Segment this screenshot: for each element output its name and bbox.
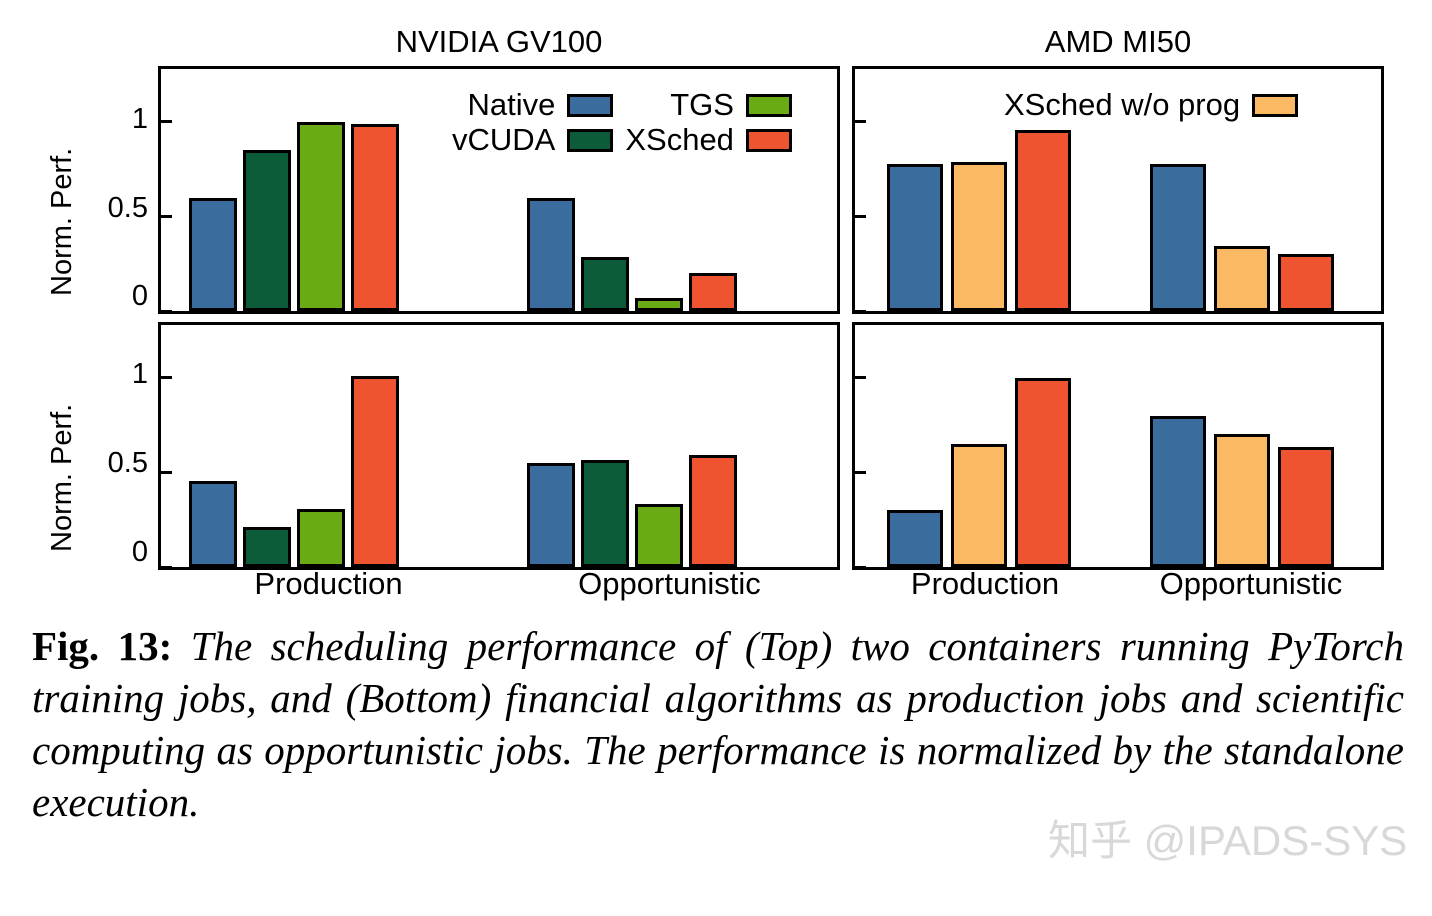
bar-native — [189, 481, 237, 567]
y-tick-mark — [161, 215, 172, 218]
chart-panel-bottom-left — [158, 322, 840, 570]
bar-group-production — [189, 325, 399, 567]
bar-tgs — [297, 122, 345, 311]
y-tick-mark — [855, 471, 866, 474]
y-tick-mark — [161, 310, 172, 313]
bar-native — [887, 510, 943, 567]
legend-right: XSched w/o prog — [1004, 88, 1298, 122]
legend-swatch-xsched — [746, 129, 792, 152]
y-axis-label-top: Norm. Perf. — [46, 148, 79, 296]
bar-vcuda — [243, 150, 291, 311]
bar-tgs — [297, 509, 345, 567]
bar-xsched — [351, 376, 399, 567]
y-tick-mark — [855, 310, 866, 313]
bar-native — [189, 198, 237, 311]
bar-vcuda — [243, 527, 291, 567]
plot-area-bottom-right — [855, 325, 1381, 567]
x-tick-label-left-opportunistic: Opportunistic — [499, 566, 840, 602]
y-tick-mark — [855, 215, 866, 218]
y-tick-mark — [161, 471, 172, 474]
y-tick-mark — [855, 376, 866, 379]
y-tick-mark — [161, 376, 172, 379]
legend-label-vcuda: vCUDA — [452, 123, 555, 157]
x-tick-label-right-opportunistic: Opportunistic — [1118, 566, 1384, 602]
bar-xsched-w-o-prog — [1214, 434, 1270, 567]
bar-xsched-w-o-prog — [951, 444, 1007, 567]
figure-13: NVIDIA GV100 AMD MI50 Norm. Perf. Norm. … — [0, 0, 1432, 916]
x-tick-label-right-production: Production — [852, 566, 1118, 602]
y-tick-label-bottom-1: 1 — [92, 358, 148, 391]
figure-caption-text: The scheduling performance of (Top) two … — [32, 623, 1404, 825]
plot-area-bottom-left — [161, 325, 837, 567]
bar-group-opportunistic — [1150, 325, 1334, 567]
bar-group-opportunistic — [527, 325, 737, 567]
y-tick-label-top-0.5: 0.5 — [92, 192, 148, 225]
bar-tgs — [635, 504, 683, 567]
legend-label-native: Native — [452, 88, 555, 122]
bar-tgs — [635, 298, 683, 311]
y-tick-label-top-0: 0 — [92, 280, 148, 313]
legend-swatch-tgs — [746, 94, 792, 117]
y-tick-label-bottom-0.5: 0.5 — [92, 447, 148, 480]
bar-xsched — [689, 455, 737, 567]
legend-swatch-vcuda — [567, 129, 613, 152]
bar-native — [1150, 416, 1206, 567]
y-tick-label-bottom-0: 0 — [92, 536, 148, 569]
bar-native — [527, 463, 575, 567]
bar-xsched-w-o-prog — [1214, 246, 1270, 311]
bar-group-production — [887, 325, 1071, 567]
bar-vcuda — [581, 257, 629, 311]
legend-swatch-native — [567, 94, 613, 117]
bar-xsched — [1278, 447, 1334, 567]
bar-xsched-w-o-prog — [951, 162, 1007, 311]
bar-group-production — [189, 69, 399, 311]
panel-title-nvidia: NVIDIA GV100 — [158, 24, 840, 60]
bar-xsched — [689, 273, 737, 311]
figure-caption: Fig. 13: The scheduling performance of (… — [32, 620, 1404, 828]
legend-label-xsched-wo-prog: XSched w/o prog — [1004, 88, 1240, 122]
bar-xsched — [1015, 130, 1071, 311]
figure-number: Fig. 13: — [32, 623, 172, 669]
legend-left: Native TGS vCUDA XSched — [452, 88, 792, 157]
legend-label-xsched: XSched — [625, 123, 734, 157]
bar-xsched — [1278, 254, 1334, 311]
y-tick-mark — [161, 120, 172, 123]
bar-native — [527, 198, 575, 311]
y-axis-label-bottom: Norm. Perf. — [46, 404, 79, 552]
bar-xsched — [1015, 378, 1071, 567]
chart-panel-bottom-right — [852, 322, 1384, 570]
legend-label-tgs: TGS — [625, 88, 734, 122]
bar-vcuda — [581, 460, 629, 567]
legend-swatch-xsched-wo-prog — [1252, 94, 1298, 117]
y-tick-label-top-1: 1 — [92, 103, 148, 136]
panel-title-amd: AMD MI50 — [852, 24, 1384, 60]
x-tick-label-left-production: Production — [158, 566, 499, 602]
y-tick-mark — [855, 120, 866, 123]
bar-native — [887, 164, 943, 311]
bar-xsched — [351, 124, 399, 311]
bar-native — [1150, 164, 1206, 311]
